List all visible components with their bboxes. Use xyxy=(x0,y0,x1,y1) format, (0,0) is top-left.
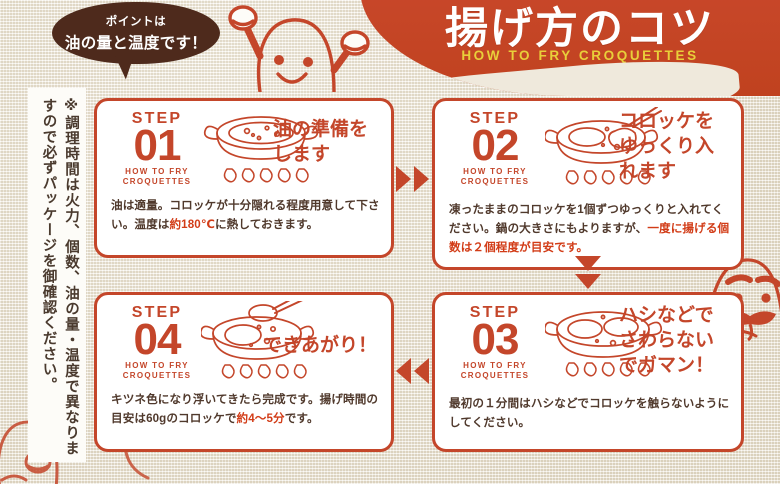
step-card-02[interactable]: STEP 02 HOW TO FRY CROQUETTES xyxy=(432,98,744,270)
step-01-body: 油は適量。コロッケが十分隠れる程度用意して下さい。温度は約180℃に熱しておきま… xyxy=(111,197,381,235)
step-03-body: 最初の１分間はハシなどでコロッケを触らないようにしてください。 xyxy=(449,395,731,433)
step-02-badge: STEP 02 HOW TO FRY CROQUETTES xyxy=(449,111,541,187)
step-02-number: 02 xyxy=(449,126,541,166)
step-03-footer: HOW TO FRY CROQUETTES xyxy=(449,361,541,381)
bubble-line-1: ポイントは xyxy=(106,13,167,29)
croquette-mascot-icon xyxy=(216,0,396,92)
step-card-02-top: STEP 02 HOW TO FRY CROQUETTES xyxy=(435,101,741,193)
arrow-step1-to-step2-a xyxy=(396,166,411,192)
step-01-footer: HOW TO FRY CROQUETTES xyxy=(111,167,203,187)
step-01-body-after: に熱しておきます。 xyxy=(215,218,318,231)
step-03-badge: STEP 03 HOW TO FRY CROQUETTES xyxy=(449,305,541,381)
step-02-footer: HOW TO FRY CROQUETTES xyxy=(449,167,541,187)
page-subtitle: HOW TO FRY CROQUETTES xyxy=(360,48,780,63)
step-04-body-after: です。 xyxy=(285,412,319,425)
step-card-03-top: STEP 03 HOW TO FRY CROQUETTES xyxy=(435,295,741,387)
step-03-headline: ハシなどでさわらないでガマン！ xyxy=(619,303,731,378)
arrow-step3-to-step4-b xyxy=(396,358,411,384)
arrow-step2-to-step3-a xyxy=(575,256,601,271)
step-04-footer: HOW TO FRY CROQUETTES xyxy=(111,361,203,381)
step-02-headline: コロッケをゆっくり入れます xyxy=(619,109,731,184)
step-04-number: 04 xyxy=(111,320,203,360)
caution-vertical-note: ※調理時間は火力、個数、油の量・温度で異なりますので必ずパッケージを御確認くださ… xyxy=(28,88,86,462)
step-01-body-highlight: 約180℃ xyxy=(169,218,214,231)
step-card-01[interactable]: STEP 01 HOW TO FRY CROQUETTES xyxy=(94,98,394,258)
step-01-headline: 油の準備をします xyxy=(273,117,381,167)
step-card-04[interactable]: STEP 04 HOW TO FRY CROQUETTES xyxy=(94,292,394,452)
step-card-03[interactable]: STEP 03 HOW TO FRY CROQUETTES xyxy=(432,292,744,452)
step-04-body-highlight: 約4〜5分 xyxy=(237,412,285,425)
bubble-line-2: 油の量と温度です！ xyxy=(65,31,207,53)
header-banner: 揚げ方のコツ HOW TO FRY CROQUETTES xyxy=(360,0,780,96)
infographic-canvas: 揚げ方のコツ HOW TO FRY CROQUETTES ポイントは 油の量と温… xyxy=(0,0,780,484)
arrow-step3-to-step4-a xyxy=(414,358,429,384)
point-speech-bubble: ポイントは 油の量と温度です！ xyxy=(52,2,220,64)
step-card-04-top: STEP 04 HOW TO FRY CROQUETTES xyxy=(97,295,391,387)
step-card-01-top: STEP 01 HOW TO FRY CROQUETTES xyxy=(97,101,391,193)
step-02-body: 凍ったままのコロッケを1個ずつゆっくりと入れてください。鍋の大きさにもよりますが… xyxy=(449,201,731,257)
step-04-body: キツネ色になり浮いてきたら完成です。揚げ時間の目安は60gのコロッケで約4〜5分… xyxy=(111,391,381,429)
step-03-number: 03 xyxy=(449,320,541,360)
step-04-badge: STEP 04 HOW TO FRY CROQUETTES xyxy=(111,305,203,381)
step-01-number: 01 xyxy=(111,126,203,166)
step-03-body-before: 最初の１分間はハシなどでコロッケを触らないようにしてください。 xyxy=(449,397,729,429)
step-04-headline: できあがり！ xyxy=(263,333,381,358)
step-01-badge: STEP 01 HOW TO FRY CROQUETTES xyxy=(111,111,203,187)
arrow-step2-to-step3-b xyxy=(575,274,601,289)
arrow-step1-to-step2-b xyxy=(414,166,429,192)
